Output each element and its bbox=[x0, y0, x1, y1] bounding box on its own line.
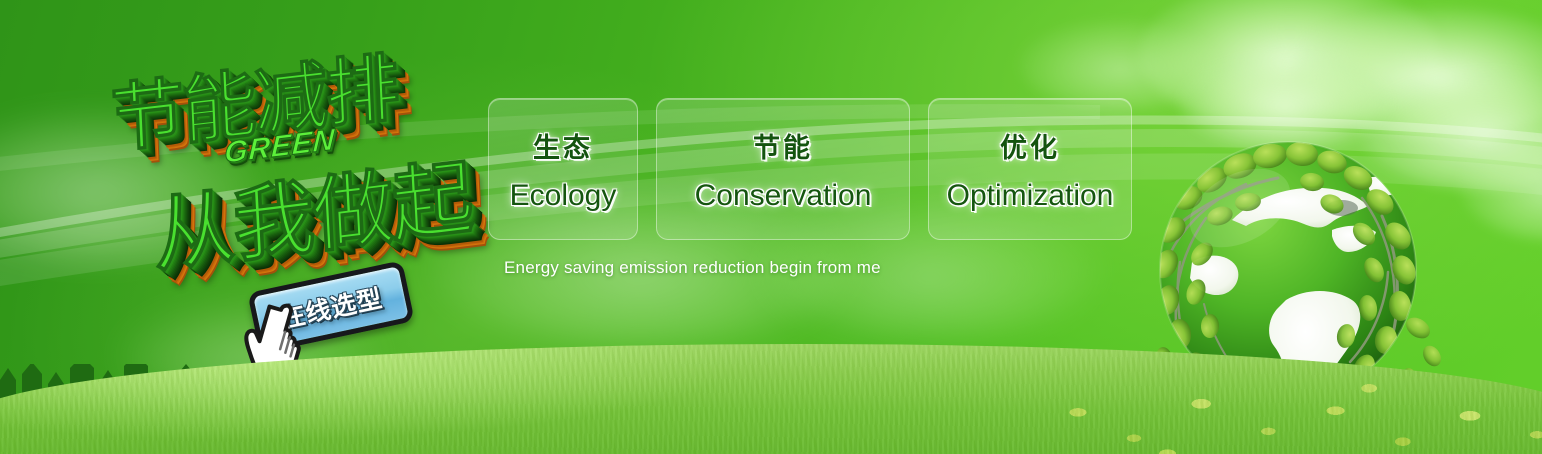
feature-card-title-cn: 生态 bbox=[533, 126, 593, 165]
feature-card-title-cn: 优化 bbox=[1000, 126, 1060, 165]
feature-card-conservation[interactable]: 节能 Conservation bbox=[656, 98, 910, 240]
feature-card-title-cn: 节能 bbox=[753, 126, 813, 165]
green-hero-banner: 节能减排 GREEN 从我做起 在线选型 生态 Ecology 节能 Conse… bbox=[0, 0, 1542, 454]
feature-card-title-en: Optimization bbox=[947, 179, 1114, 213]
feature-card-list: 生态 Ecology 节能 Conservation 优化 Optimizati… bbox=[488, 98, 1132, 240]
banner-tagline: Energy saving emission reduction begin f… bbox=[504, 258, 881, 278]
cloud-shape bbox=[1140, 0, 1440, 130]
feature-card-title-en: Conservation bbox=[695, 179, 872, 213]
cloud-shape bbox=[1460, 130, 1542, 240]
grass-ground bbox=[0, 344, 1542, 454]
headline-accent-word: GREEN bbox=[224, 123, 337, 171]
headline-line-2: 从我做起 bbox=[150, 130, 474, 288]
feature-card-optimization[interactable]: 优化 Optimization bbox=[928, 98, 1132, 240]
headline-group: 节能减排 GREEN 从我做起 bbox=[96, 38, 496, 268]
feature-card-title-en: Ecology bbox=[510, 179, 617, 213]
feature-card-ecology[interactable]: 生态 Ecology bbox=[488, 98, 638, 240]
leaf-litter-decor bbox=[1022, 378, 1542, 454]
cloud-shape bbox=[1020, 20, 1220, 110]
cloud-shape bbox=[0, 110, 260, 260]
headline-line-1: 节能减排 bbox=[109, 28, 400, 168]
